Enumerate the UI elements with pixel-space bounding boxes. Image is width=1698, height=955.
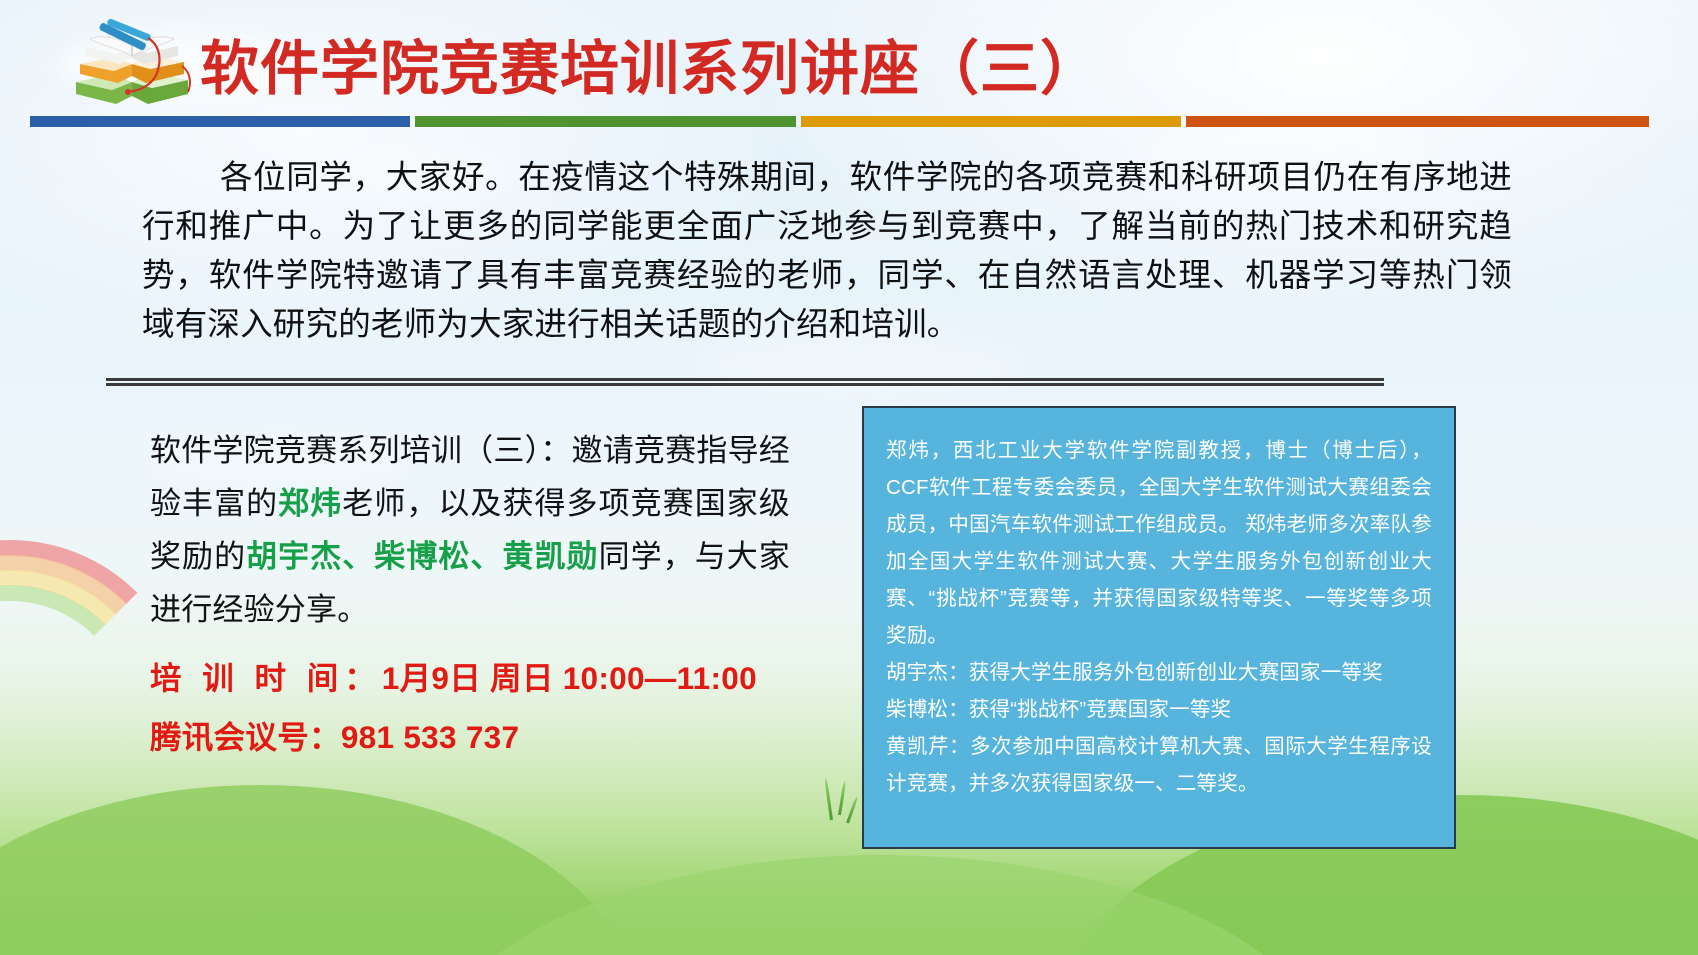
stacked-books-icon [62, 8, 202, 116]
slide-canvas: 软件学院竞赛培训系列讲座（三） 各位同学，大家好。在疫情这个特殊期间，软件学院的… [0, 0, 1698, 955]
rule-segment-amber [801, 116, 1181, 127]
speaker-bio-box: 郑炜，西北工业大学软件学院副教授，博士（博士后），CCF软件工程专委会委员，全国… [862, 406, 1456, 849]
grass-decoration [846, 796, 858, 823]
meeting-number-label: 腾讯会议号： [150, 719, 341, 755]
left-column: 软件学院竞赛系列培训（三）：邀请竞赛指导经验丰富的郑炜老师，以及获得多项竞赛国家… [150, 424, 790, 758]
grass-decoration [838, 781, 846, 815]
rule-segment-green [415, 116, 795, 127]
bio-paragraph-student-1: 胡宇杰：获得大学生服务外包创新创业大赛国家一等奖 [886, 654, 1432, 691]
meeting-number-value: 981 533 737 [341, 719, 519, 755]
teacher-name-highlight: 郑炜 [278, 486, 342, 521]
training-time-label: 培 训 时 间： [150, 660, 382, 696]
grass-decoration [824, 778, 833, 820]
rule-segment-orange [1186, 116, 1648, 127]
bio-paragraph-student-3: 黄凯芹：多次参加中国高校计算机大赛、国际大学生程序设计竞赛，并多次获得国家级一、… [886, 728, 1432, 802]
bio-paragraph-student-2: 柴博松：获得“挑战杯”竞赛国家一等奖 [886, 691, 1432, 728]
section-divider [106, 378, 1384, 386]
student-names-highlight: 胡宇杰、柴博松、黄凯勋 [246, 539, 598, 574]
announcement-paragraph: 软件学院竞赛系列培训（三）：邀请竞赛指导经验丰富的郑炜老师，以及获得多项竞赛国家… [150, 424, 790, 636]
meeting-number-line: 腾讯会议号：981 533 737 [150, 712, 790, 758]
training-time-line: 培 训 时 间：1月9日 周日 10:00—11:00 [150, 653, 790, 699]
training-time-value: 1月9日 周日 10:00—11:00 [382, 660, 757, 696]
bio-paragraph-teacher: 郑炜，西北工业大学软件学院副教授，博士（博士后），CCF软件工程专委会委员，全国… [886, 432, 1432, 654]
header-rule-bar [30, 116, 1670, 127]
rule-segment-blue [30, 116, 410, 127]
intro-paragraph: 各位同学，大家好。在疫情这个特殊期间，软件学院的各项竞赛和科研项目仍在有序地进行… [142, 153, 1512, 349]
page-title: 软件学院竞赛培训系列讲座（三） [200, 21, 1100, 106]
